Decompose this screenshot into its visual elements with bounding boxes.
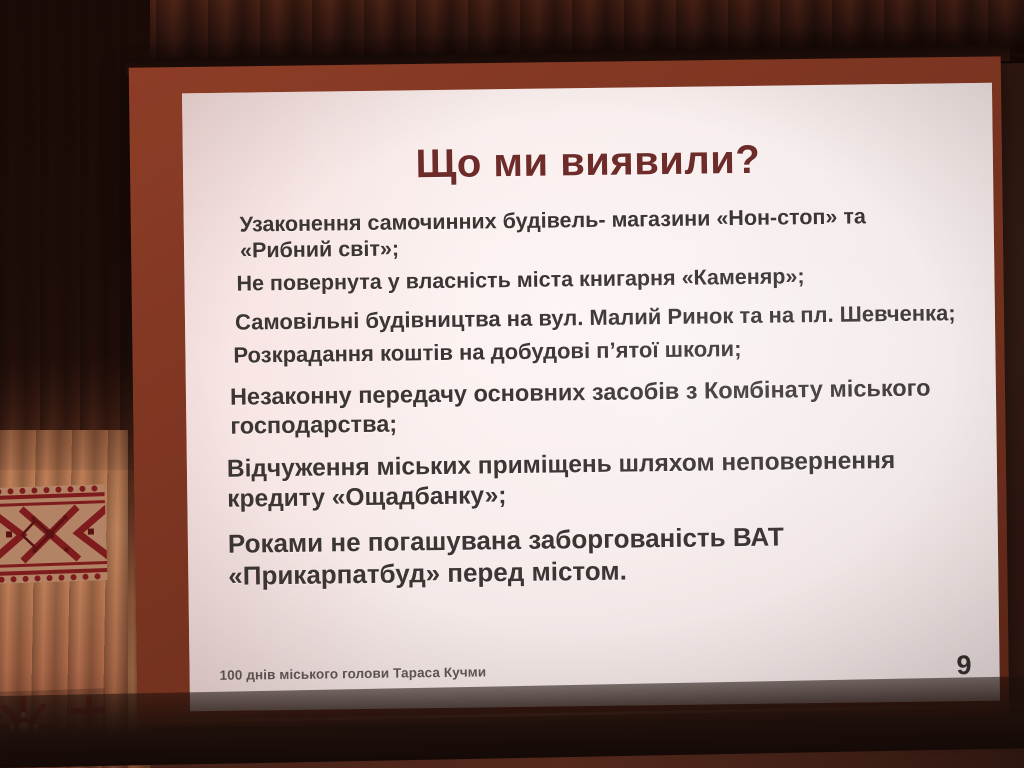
list-item: Узаконення самочинних будівель- магазини… <box>224 202 963 264</box>
slide-title: Що ми виявили? <box>209 135 968 190</box>
projected-slide: Що ми виявили? Узаконення самочинних буд… <box>182 83 1000 712</box>
list-item: Відчуження міських приміщень шляхом непо… <box>227 445 966 514</box>
list-item: Розкрадання коштів на добудові п’ятої шк… <box>225 334 963 370</box>
list-item: Роками не погашувана заборгованість ВАТ … <box>228 519 967 592</box>
list-item: Не повернута у власність міста книгарня … <box>224 262 962 298</box>
photo-scene: Що ми виявили? Узаконення самочинних буд… <box>0 0 1024 768</box>
list-item: Самовільні будівництва на вул. Малий Рин… <box>225 300 963 336</box>
list-item: Незаконну передачу основних засобів з Ко… <box>226 373 965 440</box>
embroidery-band-diamond-icon <box>0 484 108 584</box>
footer-note: 100 днів міського голови Тараса Кучми <box>220 664 487 682</box>
page-number: 9 <box>956 650 971 681</box>
findings-list: Узаконення самочинних будівель- магазини… <box>210 202 973 593</box>
slide-content: Що ми виявили? Узаконення самочинних буд… <box>182 83 1000 712</box>
